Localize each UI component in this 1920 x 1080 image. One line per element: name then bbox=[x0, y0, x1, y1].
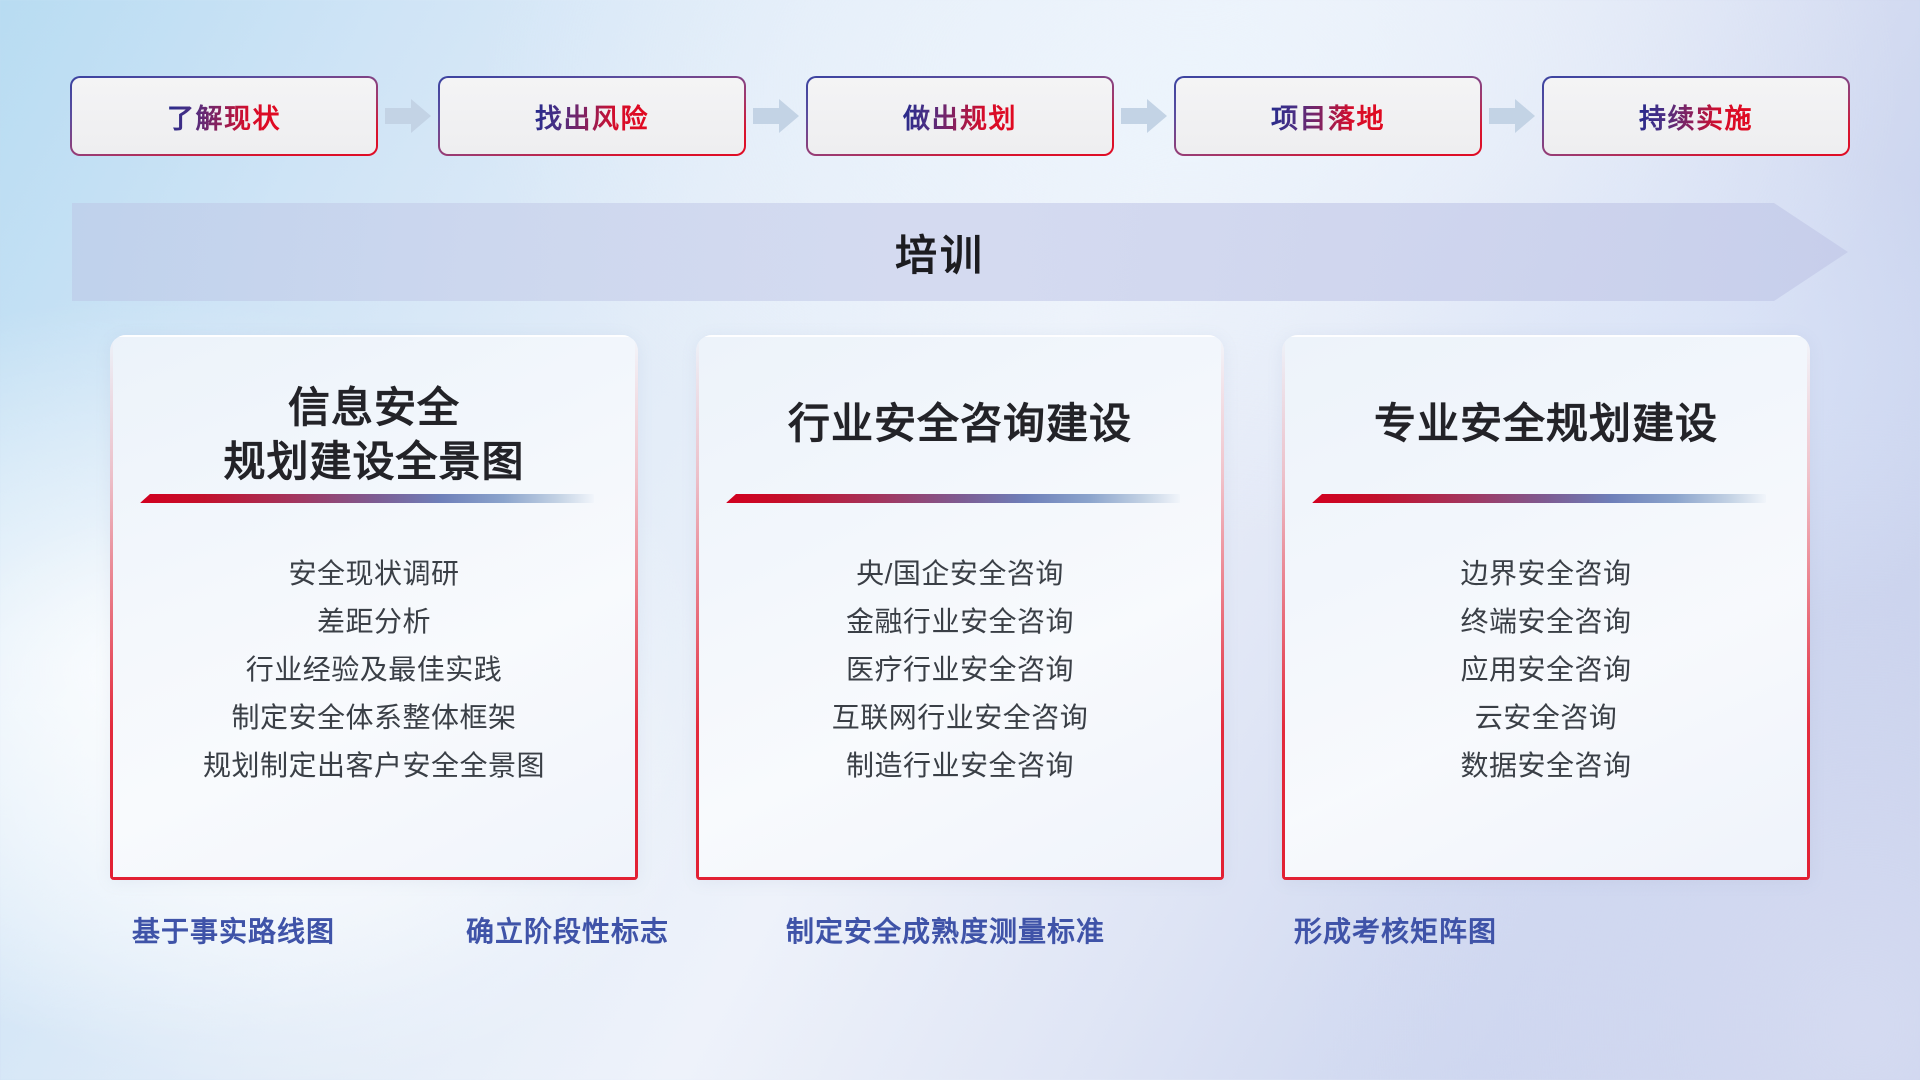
step-label: 了解现状 bbox=[167, 97, 281, 136]
training-banner: 培训 bbox=[72, 203, 1848, 301]
step-box-3[interactable]: 做出规划 bbox=[808, 78, 1112, 154]
list-item: 金融行业安全咨询 bbox=[696, 598, 1224, 646]
list-item: 行业经验及最佳实践 bbox=[110, 646, 638, 694]
card-item-list: 边界安全咨询 终端安全咨询 应用安全咨询 云安全咨询 数据安全咨询 bbox=[1282, 550, 1810, 790]
list-item: 规划制定出客户安全全景图 bbox=[110, 742, 638, 790]
list-item: 制造行业安全咨询 bbox=[696, 742, 1224, 790]
step-box-2[interactable]: 找出风险 bbox=[440, 78, 744, 154]
footer-label: 形成考核矩阵图 bbox=[1294, 910, 1497, 950]
card-title: 行业安全咨询建设 bbox=[788, 397, 1132, 451]
banner-title: 培训 bbox=[72, 203, 1848, 301]
card-information-security-blueprint[interactable]: 信息安全 规划建设全景图 安全现状调研 差距分析 行业经验及最佳实践 制定安全体… bbox=[110, 335, 638, 880]
step-box-4[interactable]: 项目落地 bbox=[1176, 78, 1480, 154]
step-box-5[interactable]: 持续实施 bbox=[1544, 78, 1848, 154]
list-item: 安全现状调研 bbox=[110, 550, 638, 598]
list-item: 云安全咨询 bbox=[1282, 694, 1810, 742]
list-item: 数据安全咨询 bbox=[1282, 742, 1810, 790]
footer-label: 基于事实路线图 bbox=[132, 910, 335, 950]
list-item: 制定安全体系整体框架 bbox=[110, 694, 638, 742]
step-label: 找出风险 bbox=[535, 97, 649, 136]
card-item-list: 央/国企安全咨询 金融行业安全咨询 医疗行业安全咨询 互联网行业安全咨询 制造行… bbox=[696, 550, 1224, 790]
step-label: 做出规划 bbox=[903, 97, 1017, 136]
card-industry-security-consulting[interactable]: 行业安全咨询建设 央/国企安全咨询 金融行业安全咨询 医疗行业安全咨询 互联网行… bbox=[696, 335, 1224, 880]
list-item: 差距分析 bbox=[110, 598, 638, 646]
list-item: 央/国企安全咨询 bbox=[696, 550, 1224, 598]
list-item: 互联网行业安全咨询 bbox=[696, 694, 1224, 742]
card-accent-rule bbox=[1312, 494, 1766, 503]
footer-label: 制定安全成熟度测量标准 bbox=[786, 910, 1105, 950]
card-title: 信息安全 规划建设全景图 bbox=[223, 381, 524, 489]
list-item: 终端安全咨询 bbox=[1282, 598, 1810, 646]
card-accent-rule bbox=[140, 494, 594, 503]
step-label: 持续实施 bbox=[1639, 97, 1753, 136]
list-item: 应用安全咨询 bbox=[1282, 646, 1810, 694]
process-step-row: 了解现状 找出风险 做出规划 项目落地 持续实施 bbox=[72, 78, 1848, 154]
arrow-right-icon bbox=[1112, 78, 1176, 154]
card-group: 信息安全 规划建设全景图 安全现状调研 差距分析 行业经验及最佳实践 制定安全体… bbox=[110, 335, 1810, 880]
footer-label: 确立阶段性标志 bbox=[466, 910, 669, 950]
arrow-right-icon bbox=[1480, 78, 1544, 154]
card-professional-security-planning[interactable]: 专业安全规划建设 边界安全咨询 终端安全咨询 应用安全咨询 云安全咨询 数据安全… bbox=[1282, 335, 1810, 880]
list-item: 边界安全咨询 bbox=[1282, 550, 1810, 598]
step-label: 项目落地 bbox=[1271, 97, 1385, 136]
arrow-right-icon bbox=[376, 78, 440, 154]
card-accent-rule bbox=[726, 494, 1180, 503]
card-title: 专业安全规划建设 bbox=[1374, 397, 1718, 451]
arrow-right-icon bbox=[744, 78, 808, 154]
list-item: 医疗行业安全咨询 bbox=[696, 646, 1224, 694]
footer-label-row: 基于事实路线图 确立阶段性标志 制定安全成熟度测量标准 形成考核矩阵图 bbox=[0, 910, 1920, 966]
step-box-1[interactable]: 了解现状 bbox=[72, 78, 376, 154]
card-item-list: 安全现状调研 差距分析 行业经验及最佳实践 制定安全体系整体框架 规划制定出客户… bbox=[110, 550, 638, 790]
